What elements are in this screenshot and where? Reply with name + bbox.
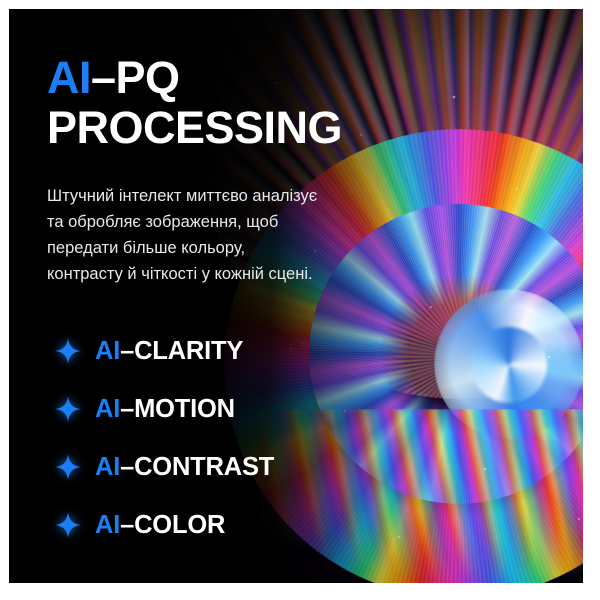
promo-card: AI–PQ PROCESSING Штучний інтелект миттєв… <box>9 9 583 583</box>
feature-label-rest: –COLOR <box>120 511 225 539</box>
sparkle-icon <box>55 454 81 480</box>
artwork-spiral-centre <box>471 327 547 403</box>
sparkle-icon <box>55 396 81 422</box>
page-title: AI–PQ PROCESSING <box>47 53 342 153</box>
page-title-accent: AI <box>47 52 91 103</box>
description-text: Штучний інтелект миттєво аналізує та обр… <box>47 183 325 287</box>
feature-label-rest: –CONTRAST <box>120 453 274 481</box>
feature-label-accent: AI <box>95 395 120 423</box>
feature-label-rest: –CLARITY <box>120 337 243 365</box>
feature-label-accent: AI <box>95 337 120 365</box>
feature-label-accent: AI <box>95 453 120 481</box>
feature-label: AI–COLOR <box>95 511 225 540</box>
feature-label: AI–CONTRAST <box>95 453 274 482</box>
feature-item-clarity: AI–CLARITY <box>55 322 274 380</box>
feature-label: AI–MOTION <box>95 395 235 424</box>
feature-item-motion: AI–MOTION <box>55 380 274 438</box>
feature-item-contrast: AI–CONTRAST <box>55 438 274 496</box>
feature-label-rest: –MOTION <box>120 395 235 423</box>
page-title-rest: –PQ PROCESSING <box>47 52 342 153</box>
feature-label-accent: AI <box>95 511 120 539</box>
sparkle-icon <box>55 338 81 364</box>
feature-item-color: AI–COLOR <box>55 496 274 554</box>
feature-list: AI–CLARITY AI–MOTION AI–CONTRAST AI–COLO… <box>55 322 274 554</box>
sparkle-icon <box>55 512 81 538</box>
feature-label: AI–CLARITY <box>95 337 243 366</box>
content-column: AI–PQ PROCESSING Штучний інтелект миттєв… <box>47 9 377 583</box>
artwork-spiral-core <box>434 289 583 439</box>
